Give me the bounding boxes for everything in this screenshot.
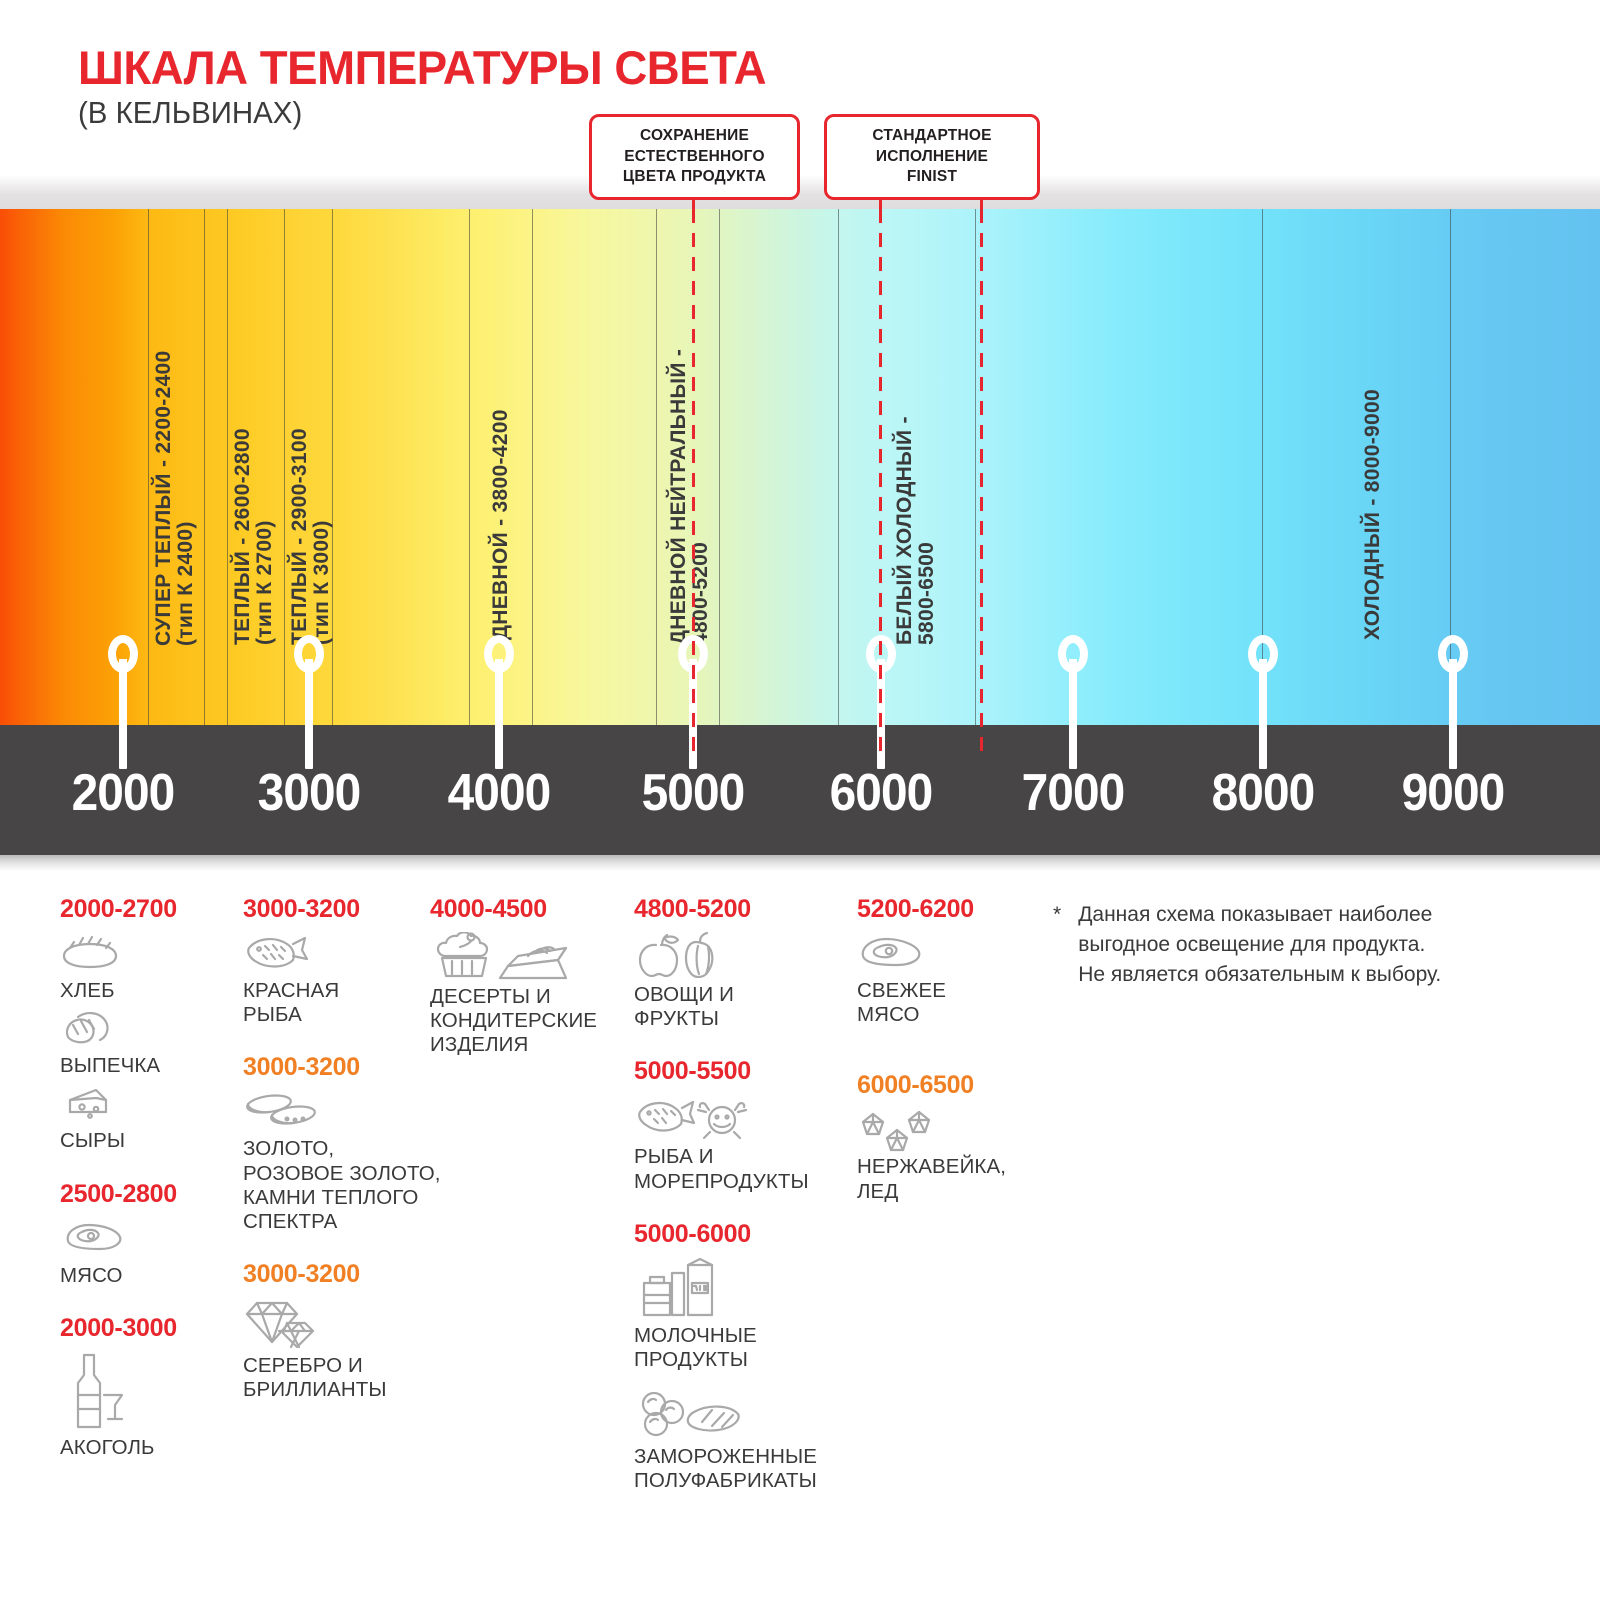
list-item: НЕРЖАВЕЙКА, ЛЕД [857,1108,1047,1203]
list-item-caption: СЫРЫ [60,1129,235,1153]
rings-icon [243,1090,493,1134]
band-label-daylight-neutral: ДНЕВНОЙ НЕЙТРАЛЬНЫЙ -4800-5200 [668,245,712,645]
legend-range: 2000-3000 [60,1314,235,1343]
band-label-sub: (тип К 3000) [311,345,333,645]
fruits-vegetables-icon [634,932,849,980]
croissant-icon [60,1007,235,1051]
band-divider [284,209,285,725]
legend-group: 4000-4500 ДЕСЕРТЫ И КОНДИТЕРСКИЕ ИЗДЕЛИЯ [430,895,620,1058]
legend-range: 5000-5500 [634,1057,849,1086]
band-label-text: ДНЕВНОЙ НЕЙТРАЛЬНЫЙ - [667,349,690,645]
pin-stem [1259,659,1267,769]
list-item: РЫБА И МОРЕПРОДУКТЫ [634,1094,849,1193]
diamond-icon [243,1297,493,1351]
list-item-caption: СЕРЕБРО И БРИЛЛИАНТЫ [243,1354,493,1402]
band-divider [227,209,228,725]
footnote-line-1: Данная схема показывает наиболее [1078,900,1441,930]
list-item-caption: ОВОЩИ И ФРУКТЫ [634,983,849,1031]
red-marker-4800 [692,209,695,760]
list-item: СЫРЫ [60,1082,235,1153]
axis-tick-3000: 3000 [226,763,392,823]
callout-a-text: СОХРАНЕНИЕ ЕСТЕСТВЕННОГО ЦВЕТА ПРОДУКТА [602,126,787,188]
axis-shadow [0,855,1600,871]
legend-range: 6000-6500 [857,1071,1047,1100]
band-label-text: ХОЛОДНЫЙ - 8000-9000 [1361,389,1384,640]
axis-tick-7000: 7000 [990,763,1156,823]
legend-group: 2000-2700 ХЛЕБ ВЫПЕЧКА [60,895,235,1154]
list-item-caption: ВЫПЕЧКА [60,1054,235,1078]
pin-stem [1069,659,1077,769]
callout-natural-color: СОХРАНЕНИЕ ЕСТЕСТВЕННОГО ЦВЕТА ПРОДУКТА [589,114,800,200]
legend-group: 5200-6200 СВЕЖЕЕ МЯСО [857,895,1047,1027]
band-divider [532,209,533,725]
band-label-daylight: ДНЕВНОЙ - 3800-4200 [490,330,512,640]
callout-b-text: СТАНДАРТНОЕ ИСПОЛНЕНИЕ FINIST [837,126,1027,188]
legend-group: 5000-5500 РЫБА И МОРЕПРОДУКТЫ [634,1057,849,1193]
band-divider [656,209,657,725]
legend-range: 4800-5200 [634,895,849,924]
band-label-text: ТЕПЛЫЙ - 2600-2800 [231,428,254,645]
list-item: МОЛОЧНЫЕ ПРОДУКТЫ [634,1257,849,1372]
fresh-meat-icon [857,932,1047,976]
list-item: ВЫПЕЧКА [60,1007,235,1078]
list-item: СЕРЕБРО И БРИЛЛИАНТЫ [243,1297,493,1402]
legend-group: 3000-3200 СЕРЕБРО И БРИЛЛИАНТЫ [243,1260,493,1402]
band-label-text: СУПЕР ТЕПЛЫЙ - 2200-2400 [152,351,175,647]
band-divider [148,209,149,725]
band-label-text: ТЕПЛЫЙ - 2900-3100 [288,428,311,645]
legend-column-4: 4800-5200 ОВОЩИ И ФРУКТЫ 5000-5500 РЫБА … [634,895,849,1520]
ice-cubes-icon [857,1108,1047,1152]
band-label-text: ДНЕВНОЙ - 3800-4200 [489,409,512,640]
band-label-warm-3000: ТЕПЛЫЙ - 2900-3100(тип К 3000) [289,345,333,645]
cheese-icon [60,1082,235,1126]
list-item: ОВОЩИ И ФРУКТЫ [634,932,849,1031]
list-item: ЗАМОРОЖЕННЫЕ ПОЛУФАБРИКАТЫ [634,1390,849,1493]
callout-finist-standard: СТАНДАРТНОЕ ИСПОЛНЕНИЕ FINIST [824,114,1040,200]
red-marker-5800 [879,209,882,760]
axis-tick-8000: 8000 [1180,763,1346,823]
list-item: ХЛЕБ [60,932,235,1003]
band-divider [975,209,976,725]
band-label-sub: (тип К 2700) [254,345,276,645]
legend-range: 3000-3200 [243,1260,493,1289]
band-divider [469,209,470,725]
list-item-caption: РЫБА И МОРЕПРОДУКТЫ [634,1145,849,1193]
list-item-caption: АКОГОЛЬ [60,1436,235,1460]
legend-range: 2500-2800 [60,1180,235,1209]
legend-group: 5000-6000 МОЛОЧНЫЕ ПРОДУКТЫ ЗАМОРОЖЕННЫЕ… [634,1220,849,1494]
band-label-sub: (тип К 2400) [175,246,197,646]
band-label-sub: 5800-6500 [916,320,938,645]
legend-range: 4000-4500 [430,895,620,924]
frozen-food-icon [634,1390,849,1442]
legend-column-1: 2000-2700 ХЛЕБ ВЫПЕЧКА [60,895,235,1486]
red-marker-6500 [980,209,983,760]
infographic-root: ШКАЛА ТЕМПЕРАТУРЫ СВЕТА (В КЕЛЬВИНАХ) СО… [0,0,1600,1600]
legend-group: 4800-5200 ОВОЩИ И ФРУКТЫ [634,895,849,1031]
list-item-caption: ДЕСЕРТЫ И КОНДИТЕРСКИЕ ИЗДЕЛИЯ [430,985,620,1058]
band-label-text: БЕЛЫЙ ХОЛОДНЫЙ - [893,416,916,645]
band-divider [838,209,839,725]
axis-tick-4000: 4000 [416,763,582,823]
axis-tick-6000: 6000 [798,763,964,823]
list-item: ЗОЛОТО, РОЗОВОЕ ЗОЛОТО, КАМНИ ТЕПЛОГО СП… [243,1090,493,1234]
legend-group: 6000-6500 НЕРЖАВЕЙКА, ЛЕД [857,1071,1047,1203]
top-band [0,176,1600,210]
footnote-text: Данная схема показывает наиболее выгодно… [1078,900,1441,989]
band-divider [719,209,720,725]
list-item-caption: СВЕЖЕЕ МЯСО [857,979,1047,1027]
footnote-marker: * [1053,900,1061,989]
band-label-warm-2700: ТЕПЛЫЙ - 2600-2800(тип К 2700) [232,345,276,645]
list-item: ДЕСЕРТЫ И КОНДИТЕРСКИЕ ИЗДЕЛИЯ [430,932,620,1058]
list-item-caption: ХЛЕБ [60,979,235,1003]
footnote-line-2: выгодное освещение для продукта. [1078,930,1441,960]
pin-stem [495,659,503,769]
band-label-white-cold: БЕЛЫЙ ХОЛОДНЫЙ -5800-6500 [894,320,938,645]
dairy-icon [634,1257,849,1321]
legend-range: 5000-6000 [634,1220,849,1249]
bread-icon [60,932,235,976]
list-item-caption: ЗОЛОТО, РОЗОВОЕ ЗОЛОТО, КАМНИ ТЕПЛОГО СП… [243,1137,493,1234]
seafood-icon [634,1094,849,1142]
page-title: ШКАЛА ТЕМПЕРАТУРЫ СВЕТА [78,40,766,95]
band-label-cold: ХОЛОДНЫЙ - 8000-9000 [1362,310,1384,640]
list-item: АКОГОЛЬ [60,1351,235,1460]
list-item-caption: МЯСО [60,1264,235,1288]
dessert-icon [430,932,620,982]
pin-stem [119,659,127,769]
legend-range: 5200-6200 [857,895,1047,924]
alcohol-icon [60,1351,235,1433]
footnote: * Данная схема показывает наиболее выгод… [1053,900,1553,989]
list-item: МЯСО [60,1217,235,1288]
steak-icon [60,1217,235,1261]
list-item-caption: МОЛОЧНЫЕ ПРОДУКТЫ [634,1324,849,1372]
page-subtitle: (В КЕЛЬВИНАХ) [78,95,302,131]
legend-group: 2500-2800 МЯСО [60,1180,235,1288]
legend-group: 2000-3000 АКОГОЛЬ [60,1314,235,1460]
footnote-line-3: Не является обязательным к выбору. [1078,960,1441,990]
band-label-super-warm: СУПЕР ТЕПЛЫЙ - 2200-2400(тип К 2400) [153,246,197,646]
axis-tick-9000: 9000 [1370,763,1536,823]
pin-stem [305,659,313,769]
axis-tick-5000: 5000 [610,763,776,823]
band-divider [204,209,205,725]
pin-stem [1449,659,1457,769]
legend-column-5: 5200-6200 СВЕЖЕЕ МЯСО 6000-6500 НЕРЖАВЕЙ… [857,895,1047,1230]
legend-range: 2000-2700 [60,895,235,924]
list-item-caption: ЗАМОРОЖЕННЫЕ ПОЛУФАБРИКАТЫ [634,1445,849,1493]
list-item-caption: НЕРЖАВЕЙКА, ЛЕД [857,1155,1047,1203]
legend-column-3: 4000-4500 ДЕСЕРТЫ И КОНДИТЕРСКИЕ ИЗДЕЛИЯ [430,895,620,1084]
list-item: СВЕЖЕЕ МЯСО [857,932,1047,1027]
axis-tick-2000: 2000 [40,763,206,823]
